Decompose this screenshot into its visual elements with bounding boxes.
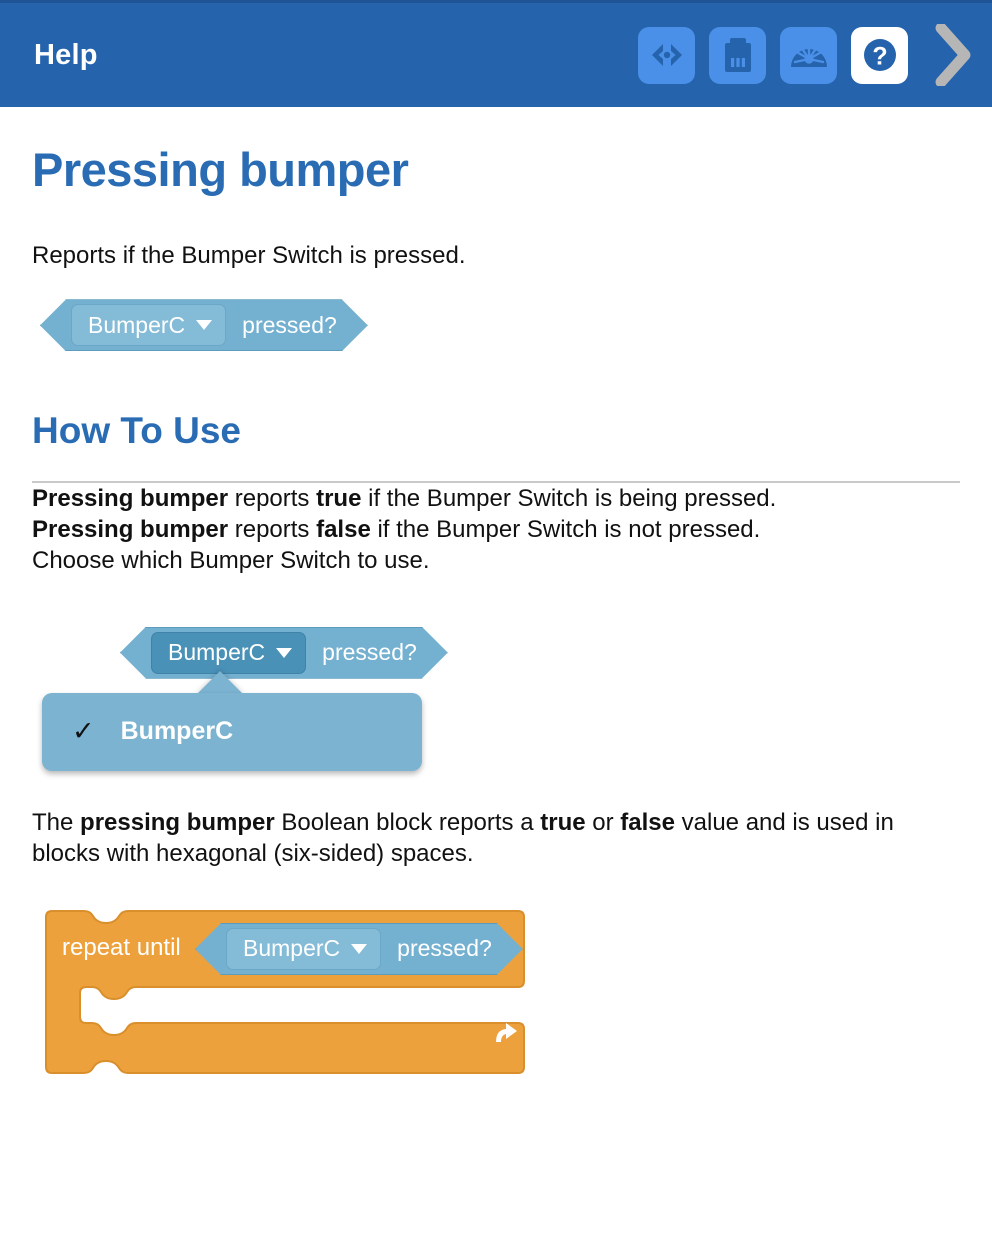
dropdown-menu-pointer [196,671,244,695]
bumper-port-dropdown-open[interactable]: BumperC [151,632,306,674]
page-summary: Reports if the Bumper Switch is pressed. [32,241,960,271]
gauge-button[interactable] [780,27,837,84]
repeat-until-label: repeat until [62,936,181,960]
how-to-paragraph-3: Choose which Bumper Switch to use. [32,545,960,576]
dropdown-demo-illustration: BumperC pressed? ✓ BumperC [32,627,960,807]
bumper-port-value: BumperC [168,641,265,664]
page-header-title: Help [34,41,98,70]
dropdown-menu-item-label: BumperC [121,719,234,744]
loop-arrow-wrapper [490,1017,520,1052]
bumper-port-dropdown[interactable]: BumperC [71,304,226,346]
help-button[interactable]: ? [851,27,908,84]
loop-arrow-icon [490,1017,520,1047]
code-button[interactable] [638,27,695,84]
demo-block-wrapper: BumperC pressed? [120,627,448,679]
chevron-down-icon [196,320,212,330]
chevron-down-icon [351,944,367,954]
help-content: Pressing bumper Reports if the Bumper Sw… [0,145,992,1081]
repeat-until-block[interactable]: repeat until BumperC pressed? [40,909,530,1081]
svg-text:?: ? [872,43,887,71]
how-to-paragraph-1: Pressing bumper reports true if the Bump… [32,483,960,514]
check-icon: ✓ [72,718,95,745]
chevron-right-icon [933,24,973,86]
bumper-port-dropdown[interactable]: BumperC [226,928,381,970]
dropdown-menu[interactable]: ✓ BumperC [42,693,422,771]
chevron-down-icon [276,648,292,658]
closing-paragraph: The pressing bumper Boolean block report… [32,807,960,869]
pressing-bumper-block-demo[interactable]: BumperC pressed? [120,627,448,679]
next-page-button[interactable] [930,23,976,87]
device-button[interactable] [709,27,766,84]
device-battery-icon [723,37,753,73]
pressing-bumper-block-nested[interactable]: BumperC pressed? [195,923,523,975]
block-suffix-label: pressed? [322,641,417,664]
nested-block-wrapper: BumperC pressed? [195,923,523,975]
help-toolbar: Help [0,0,992,107]
page-title: Pressing bumper [32,145,960,194]
gauge-icon [789,40,829,70]
section-title: How To Use [32,411,960,452]
block-suffix-label: pressed? [397,937,492,960]
bumper-port-value: BumperC [88,314,185,337]
bumper-port-value: BumperC [243,937,340,960]
pressing-bumper-block[interactable]: BumperC pressed? [40,299,368,351]
how-to-use-section: How To Use Pressing bumper reports true … [32,411,960,1081]
help-icon: ? [859,34,901,76]
code-icon [650,42,684,68]
block-suffix-label: pressed? [242,314,337,337]
preview-block-row: BumperC pressed? [40,299,960,351]
toolbar-icon-group: ? [638,23,976,87]
how-to-paragraph-2: Pressing bumper reports false if the Bum… [32,514,960,545]
